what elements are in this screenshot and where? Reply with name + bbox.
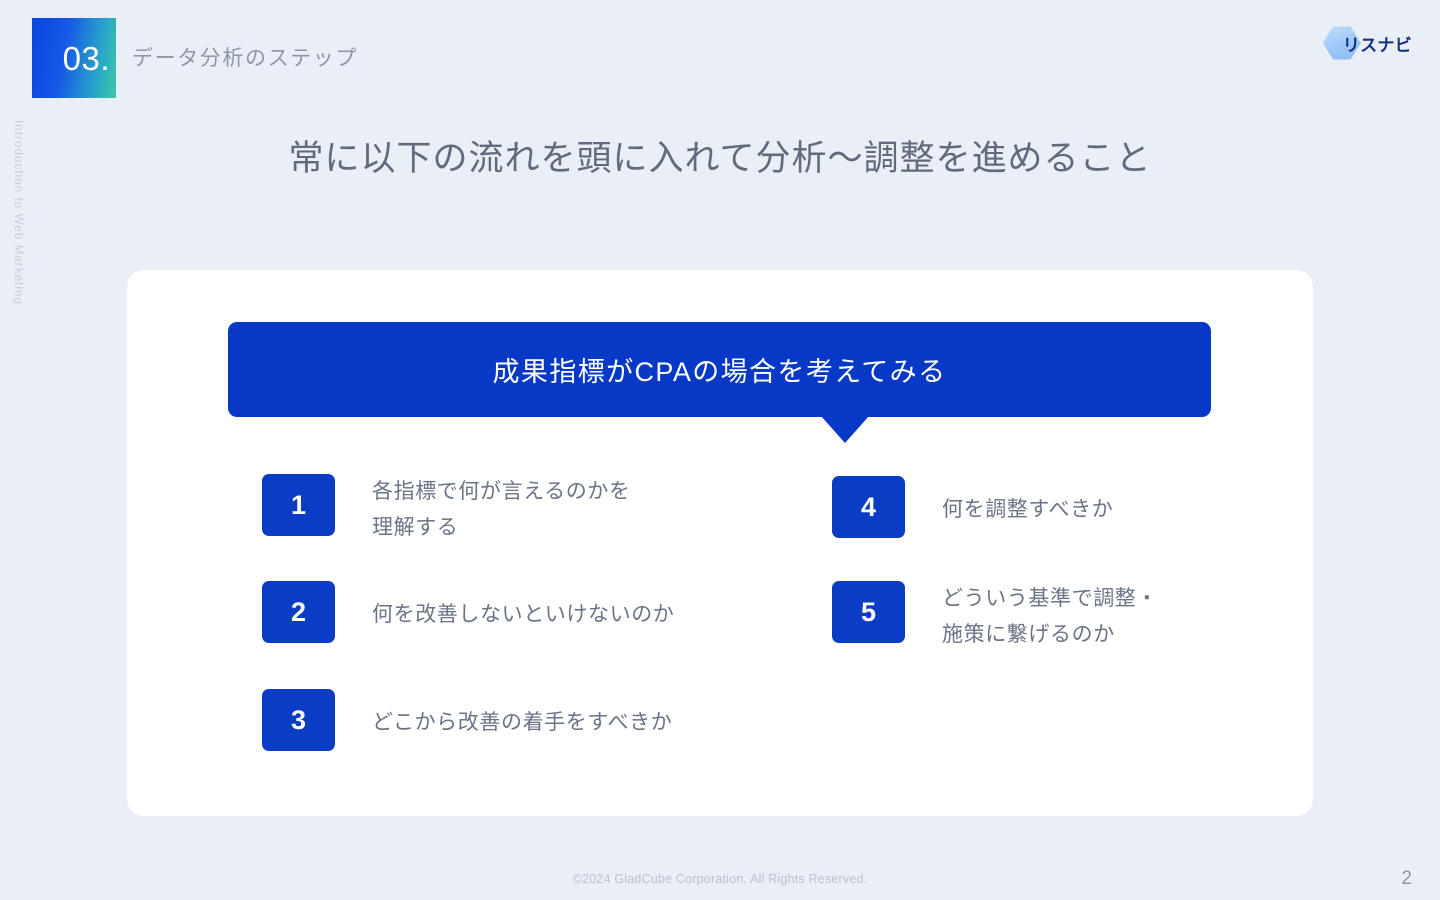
step-number-badge: 4 (832, 476, 905, 538)
step-description: どういう基準で調整・ 施策に繋げるのか (942, 581, 1158, 653)
step-number-badge: 3 (262, 689, 335, 751)
banner-pointer-triangle-icon (821, 416, 869, 443)
page-title: 常に以下の流れを頭に入れて分析〜調整を進めること (0, 130, 1440, 181)
slide-root: { "header": { "section_number": "03.", "… (0, 0, 1440, 900)
copyright-notice: ©2024 GladCube Corporation. All Rights R… (0, 872, 1440, 886)
step-description: どこから改善の着手をすべきか (372, 689, 672, 741)
section-number-label: 03. (63, 42, 110, 75)
list-item: 3 どこから改善の着手をすべきか (262, 689, 672, 751)
brand-logo: リスナビ (1323, 28, 1412, 58)
page-number: 2 (1401, 868, 1412, 890)
step-number-label: 1 (291, 490, 306, 521)
step-number-label: 5 (861, 597, 876, 628)
step-description: 何を調整すべきか (942, 476, 1113, 528)
scenario-banner-label: 成果指標がCPAの場合を考えてみる (493, 350, 947, 389)
brand-name-label: リスナビ (1343, 31, 1412, 56)
step-number-badge: 2 (262, 581, 335, 643)
steps-container: 1 各指標で何が言えるのかを 理解する 2 何を改善しないといけないのか 3 ど… (127, 470, 1313, 800)
list-item: 1 各指標で何が言えるのかを 理解する (262, 474, 631, 546)
step-number-label: 3 (291, 705, 306, 736)
step-description: 何を改善しないといけないのか (372, 581, 674, 633)
step-number-badge: 1 (262, 474, 335, 536)
section-number-badge: 03. (32, 18, 116, 98)
list-item: 4 何を調整すべきか (832, 476, 1113, 538)
scenario-banner: 成果指標がCPAの場合を考えてみる (228, 322, 1211, 417)
step-number-label: 4 (861, 492, 876, 523)
list-item: 5 どういう基準で調整・ 施策に繋げるのか (832, 581, 1158, 653)
step-number-badge: 5 (832, 581, 905, 643)
step-description: 各指標で何が言えるのかを 理解する (372, 474, 631, 546)
step-number-label: 2 (291, 597, 306, 628)
list-item: 2 何を改善しないといけないのか (262, 581, 674, 643)
section-title: データ分析のステップ (132, 42, 358, 72)
content-card: 成果指標がCPAの場合を考えてみる 1 各指標で何が言えるのかを 理解する 2 … (127, 270, 1313, 816)
